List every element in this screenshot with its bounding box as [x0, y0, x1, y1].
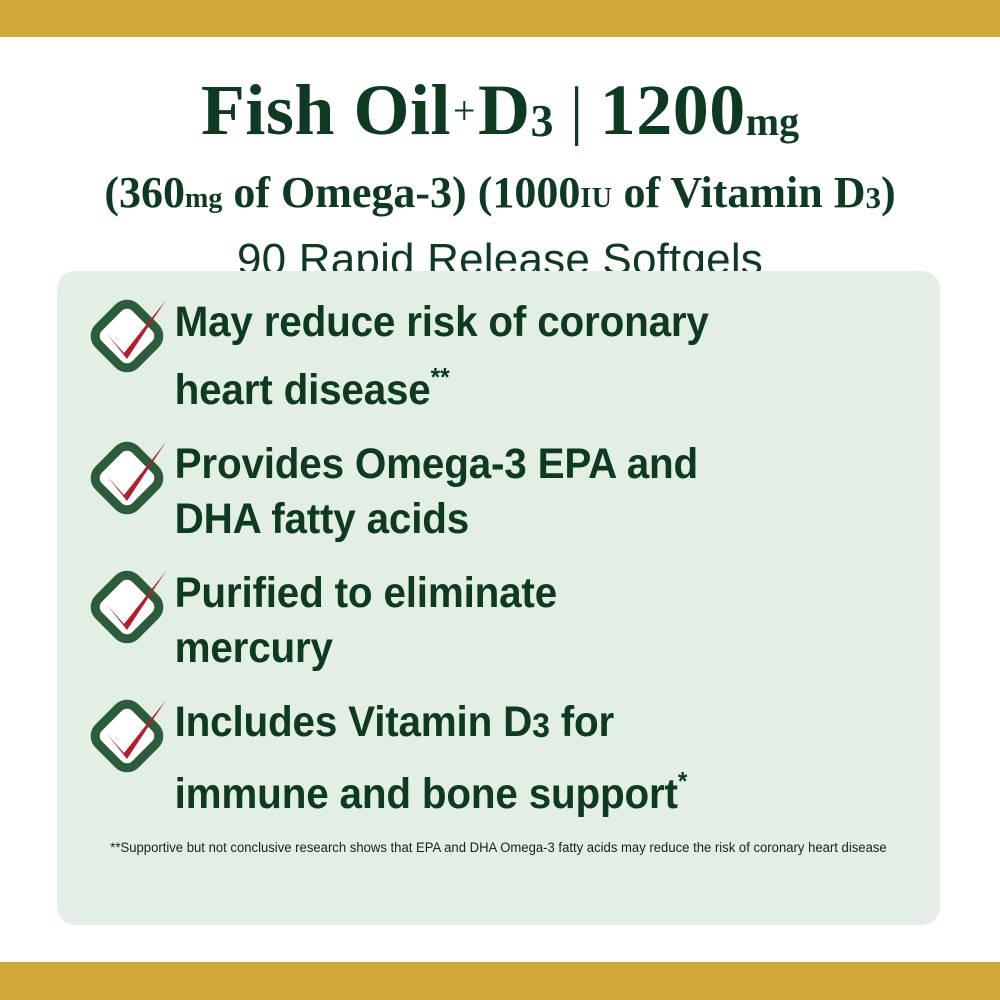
vitd-open-text: (1000 [478, 168, 581, 217]
benefit-line-1-post: for [550, 698, 614, 746]
dosage-subtitle: (360mg of Omega-3) (1000IU of Vitamin D3… [0, 168, 1000, 224]
benefit-superscript: * [678, 766, 688, 796]
vitd-subscript: 3 [865, 180, 881, 215]
product-header: Fish Oil+D3|1200mg (360mg of Omega-3) (1… [0, 37, 1000, 286]
benefit-line-2: heart disease [175, 366, 431, 414]
benefits-panel: May reduce risk of coronary heart diseas… [57, 271, 940, 925]
benefit-item: Purified to eliminate mercury [87, 564, 910, 676]
benefit-item: Provides Omega-3 EPA and DHA fatty acids [87, 435, 910, 547]
benefit-item: Includes Vitamin D3 for immune and bone … [87, 693, 910, 822]
benefit-line-2: DHA fatty acids [175, 495, 469, 543]
check-diamond-icon [87, 697, 169, 777]
benefit-item: May reduce risk of coronary heart diseas… [87, 293, 910, 418]
benefit-line-1-pre: Includes Vitamin D [175, 698, 533, 746]
product-infographic: Fish Oil+D3|1200mg (360mg of Omega-3) (1… [0, 0, 1000, 1000]
title-divider: | [554, 74, 600, 147]
benefit-text: Provides Omega-3 EPA and DHA fatty acids [169, 435, 698, 547]
omega-rest-text: of Omega-3) [222, 168, 466, 217]
strength-unit: mg [746, 99, 799, 144]
benefit-line-1: Purified to eliminate [175, 569, 557, 617]
omega-unit: mg [185, 183, 222, 214]
vitamin-letter: D [478, 70, 531, 150]
product-name-text: Fish Oil [201, 70, 451, 150]
disclaimer-text: **Supportive but not conclusive research… [99, 839, 897, 857]
benefit-line-2: mercury [175, 624, 333, 672]
benefit-line-1: Provides Omega-3 EPA and [175, 440, 698, 488]
benefit-line-2: immune and bone support [175, 770, 678, 818]
benefit-text: May reduce risk of coronary heart diseas… [169, 293, 709, 418]
check-diamond-icon [87, 568, 169, 648]
benefit-text: Purified to eliminate mercury [169, 564, 557, 676]
benefit-text: Includes Vitamin D3 for immune and bone … [169, 693, 687, 822]
check-diamond-icon [87, 297, 169, 377]
vitamin-subscript: 3 [531, 95, 555, 146]
benefit-line-1: May reduce risk of coronary [175, 298, 709, 346]
check-diamond-icon [87, 439, 169, 519]
vitd-rest-text: of Vitamin D [612, 168, 865, 217]
plus-symbol: + [451, 88, 478, 133]
bottom-gold-band [0, 962, 1000, 1000]
benefit-vitamin-subscript: 3 [532, 707, 550, 745]
benefit-superscript: ** [431, 362, 450, 392]
vitd-unit: IU [580, 183, 612, 214]
top-gold-band [0, 0, 1000, 37]
strength-value: 1200 [600, 70, 746, 150]
product-title: Fish Oil+D3|1200mg [0, 72, 1000, 160]
vitd-close-paren: ) [881, 168, 896, 217]
omega-open-text: (360 [104, 168, 185, 217]
